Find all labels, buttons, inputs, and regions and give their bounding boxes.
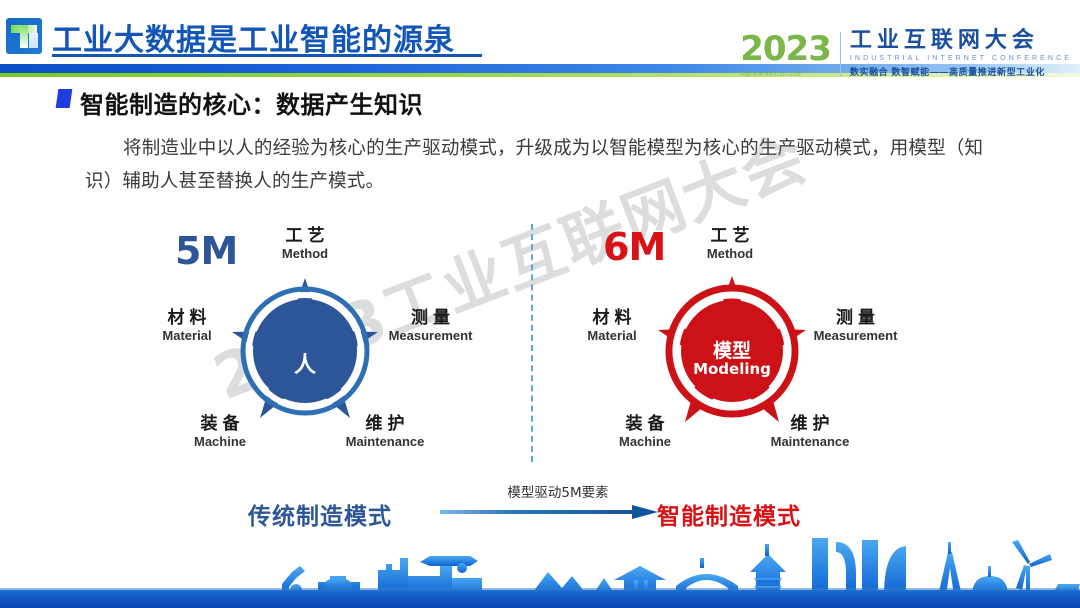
diagram-intelligent: 6M 模型 Modeling 工艺 Method 材料 — [565, 218, 935, 480]
conference-name-cn: 工业互联网大会 — [850, 30, 1072, 52]
conference-slogan: 数实融合 数智赋能——高质量推进新型工业化 — [850, 65, 1072, 78]
conference-logo: 2023 中国·苏州 9月11日—13日 工业互联网大会 INDUSTRIAL … — [740, 30, 1072, 82]
label-intelligent-mode: 智能制造模式 — [657, 497, 801, 531]
title-underline — [52, 54, 482, 57]
transition-arrow-icon — [440, 500, 670, 526]
footer-sea-edge — [0, 588, 1080, 590]
conference-year: 2023 — [740, 30, 831, 66]
diagram-divider — [531, 224, 533, 462]
conference-name-en: INDUSTRIAL INTERNET CONFERENCE — [850, 55, 1072, 62]
node-measurement-en: Measurement — [783, 328, 928, 344]
node-machine: 装备 Machine — [160, 414, 280, 450]
node-method: 工艺 Method — [245, 226, 365, 262]
node-material-en: Material — [132, 328, 242, 344]
node-measurement-cn: 测量 — [358, 308, 503, 328]
node-maintenance-en: Maintenance — [310, 434, 460, 450]
node-machine: 装备 Machine — [585, 414, 705, 450]
slide-header: 工业大数据是工业智能的源泉 2023 中国·苏州 9月11日—13日 工业互联网… — [0, 0, 1080, 86]
node-material-cn: 材料 — [557, 308, 667, 328]
slide-canvas: 工业大数据是工业智能的源泉 2023 中国·苏州 9月11日—13日 工业互联网… — [0, 0, 1080, 608]
node-maintenance-cn: 维护 — [310, 414, 460, 434]
node-material: 材料 Material — [557, 308, 667, 344]
node-measurement-en: Measurement — [358, 328, 503, 344]
node-method-cn: 工艺 — [670, 226, 790, 246]
node-maintenance-cn: 维护 — [735, 414, 885, 434]
node-maintenance: 维护 Maintenance — [735, 414, 885, 450]
five-m-star-icon — [230, 276, 380, 426]
diagram-count-label: 6M — [603, 228, 665, 266]
node-machine-en: Machine — [160, 434, 280, 450]
section-bullet-icon — [56, 89, 73, 108]
page-title: 工业大数据是工业智能的源泉 — [52, 15, 455, 59]
node-machine-cn: 装备 — [585, 414, 705, 434]
node-material-cn: 材料 — [132, 308, 242, 328]
node-material-en: Material — [557, 328, 667, 344]
arrow-caption: 模型驱动5M要素 — [468, 481, 648, 501]
node-material: 材料 Material — [132, 308, 242, 344]
label-traditional-mode: 传统制造模式 — [248, 497, 392, 531]
diagram-count-label: 5M — [175, 232, 237, 270]
node-method: 工艺 Method — [670, 226, 790, 262]
conference-divider — [840, 32, 841, 76]
footer-sea-band — [0, 590, 1080, 608]
node-method-en: Method — [670, 246, 790, 262]
conference-date: 中国·苏州 9月11日—13日 — [740, 71, 831, 78]
node-machine-en: Machine — [585, 434, 705, 450]
section-title: 智能制造的核心：数据产生知识 — [80, 85, 423, 120]
node-method-en: Method — [245, 246, 365, 262]
node-maintenance-en: Maintenance — [735, 434, 885, 450]
paragraph-text: 将制造业中以人的经验为核心的生产驱动模式，升级成为以智能模型为核心的生产驱动模式… — [85, 138, 983, 192]
node-measurement: 测量 Measurement — [783, 308, 928, 344]
t-logo-icon — [6, 18, 42, 54]
section-paragraph: 将制造业中以人的经验为核心的生产驱动模式，升级成为以智能模型为核心的生产驱动模式… — [85, 132, 990, 198]
node-maintenance: 维护 Maintenance — [310, 414, 460, 450]
node-method-cn: 工艺 — [245, 226, 365, 246]
diagram-traditional: 5M 人 工艺 Method 材料 Mate — [140, 218, 500, 480]
node-measurement-cn: 测量 — [783, 308, 928, 328]
node-measurement: 测量 Measurement — [358, 308, 503, 344]
six-m-star-icon — [657, 276, 807, 426]
node-machine-cn: 装备 — [160, 414, 280, 434]
